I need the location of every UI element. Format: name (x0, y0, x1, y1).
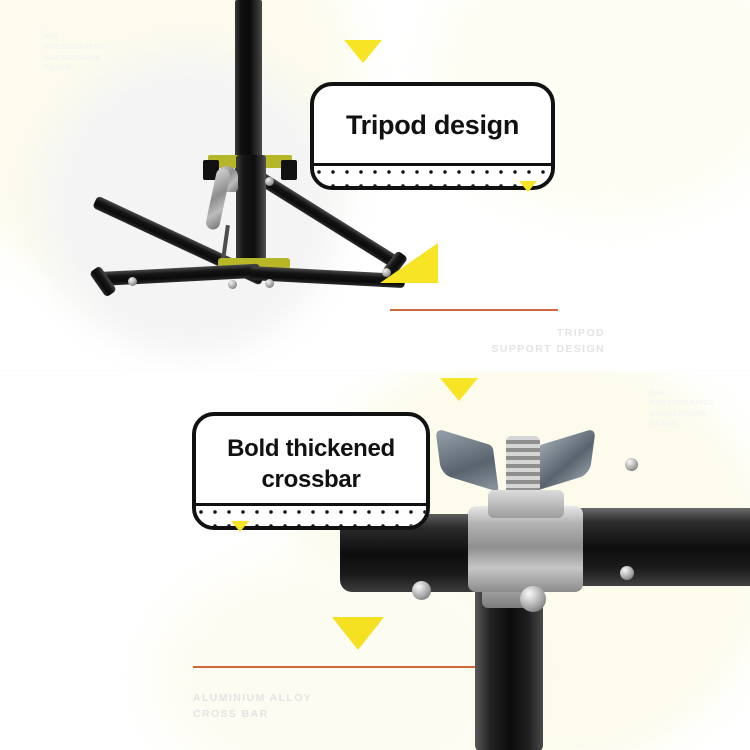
callout-crossbar-line-2: crossbar (196, 465, 426, 496)
watermark-line-1: THE (650, 390, 666, 397)
callout-crossbar-text: Bold thickened crossbar (196, 416, 426, 495)
screw-hub-right (265, 177, 274, 186)
threaded-bolt (506, 436, 540, 494)
callout-tripod-design-text: Tripod design (314, 86, 551, 139)
caption-line-2: SUPPORT DESIGN (491, 341, 605, 357)
screw-base-mid (228, 280, 237, 289)
wing-nut-right-wing (532, 428, 596, 492)
caption-aluminium-alloy-cross-bar: ALUMINIUM ALLOY CROSS BAR (193, 690, 312, 723)
watermark-line-0: 1 (650, 382, 714, 389)
screw-left-tube (412, 581, 431, 600)
center-pole (235, 0, 262, 175)
aluminium-collar-clamp (468, 506, 583, 592)
caption-line-1: ALUMINIUM ALLOY (193, 690, 312, 706)
caption-tripod-support-design: TRIPOD SUPPORT DESIGN (491, 325, 605, 358)
panel-tripod-support-design: 1 THE PHOTOGRAPHIC BACKGROUND FRAME (0, 0, 750, 370)
caption-line-1: TRIPOD (491, 325, 605, 341)
hub-tab-right (281, 160, 297, 180)
callout-tripod-design: Tripod design (310, 82, 555, 190)
yellow-triangle-down-icon-panel2 (440, 378, 478, 401)
wing-nut-left-wing (435, 428, 499, 492)
yellow-triangle-down-icon-top (344, 40, 382, 63)
screw-base-mid2 (265, 279, 274, 288)
callout-crossbar-line-1: Bold thickened (196, 434, 426, 465)
wing-nut-base (488, 490, 564, 518)
yellow-triangle-down-icon-bottom (332, 617, 384, 650)
callout-tail-triangle-icon-2 (231, 521, 249, 532)
product-feature-infographic: 1 THE PHOTOGRAPHIC BACKGROUND FRAME (0, 0, 750, 750)
screw-right-tube-low (625, 458, 638, 471)
center-pole-lower (236, 155, 266, 265)
crossbar-tube-right (570, 508, 750, 586)
caption-rule-tripod (390, 309, 558, 311)
caption-line-2: CROSS BAR (193, 706, 312, 722)
screw-right-tube (620, 566, 634, 580)
yellow-triangle-pointer-icon-leg (380, 243, 438, 283)
callout-bold-thickened-crossbar: Bold thickened crossbar (192, 412, 430, 530)
screw-riser-phillips (520, 586, 546, 612)
callout-dot-band (314, 163, 551, 186)
screw-base-left (128, 277, 137, 286)
callout-tail-triangle-icon (519, 181, 537, 192)
